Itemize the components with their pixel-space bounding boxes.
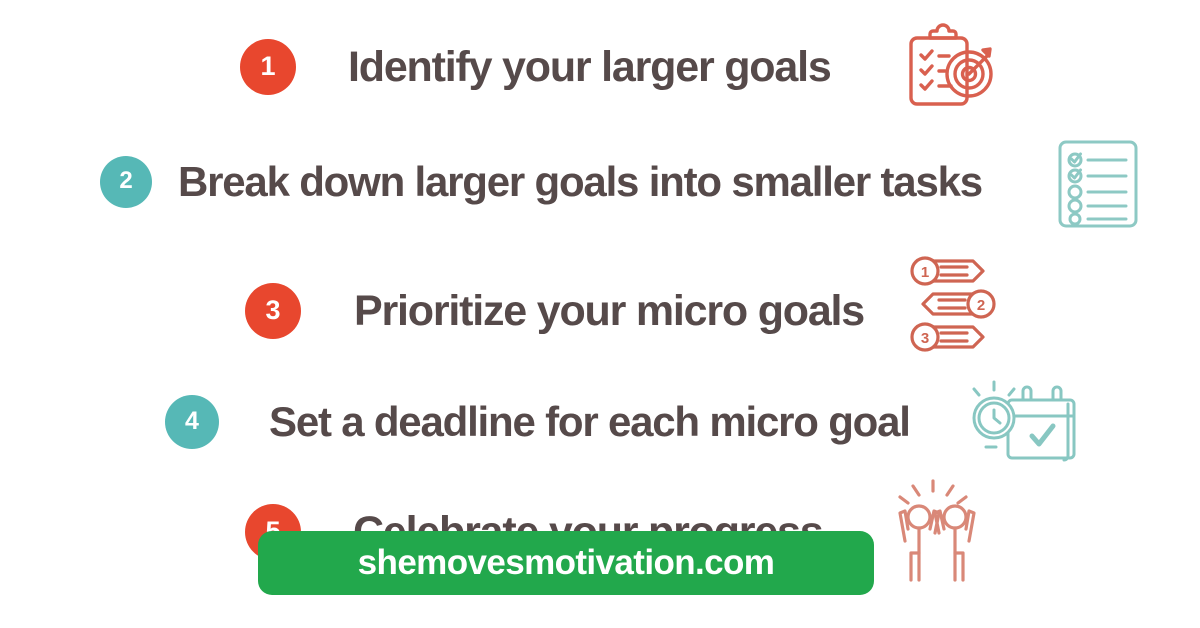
watermark-banner[interactable]: shemovesmotivation.com [258, 531, 874, 595]
step-label-4: Set a deadline for each micro goal [269, 398, 910, 446]
step-number-badge-2: 2 [100, 156, 152, 208]
step-label-2: Break down larger goals into smaller tas… [178, 158, 982, 206]
celebrating-people-icon [893, 477, 991, 587]
numbered-priority-list-icon: 1 2 3 [903, 254, 1003, 354]
step-row-1: 1 Identify your larger goals [240, 22, 831, 112]
step-row-2: 2 Break down larger goals into smaller t… [100, 137, 982, 227]
infographic-canvas: 1 Identify your larger goals 2 Break dow… [0, 0, 1200, 628]
watermark-text: shemovesmotivation.com [358, 543, 775, 583]
svg-text:1: 1 [921, 264, 929, 281]
step-row-4: 4 Set a deadline for each micro goal [165, 377, 910, 467]
step-number-badge-3: 3 [245, 283, 301, 339]
step-row-3: 3 Prioritize your micro goals [245, 266, 864, 356]
clipboard-target-icon [897, 22, 1001, 118]
step-number-badge-4: 4 [165, 395, 219, 449]
step-label-1: Identify your larger goals [348, 43, 831, 92]
clock-calendar-check-icon [968, 374, 1080, 474]
checklist-document-icon [1056, 134, 1140, 234]
svg-text:3: 3 [921, 330, 929, 347]
svg-text:2: 2 [977, 297, 985, 314]
step-label-3: Prioritize your micro goals [354, 287, 864, 336]
step-number-badge-1: 1 [240, 39, 296, 95]
